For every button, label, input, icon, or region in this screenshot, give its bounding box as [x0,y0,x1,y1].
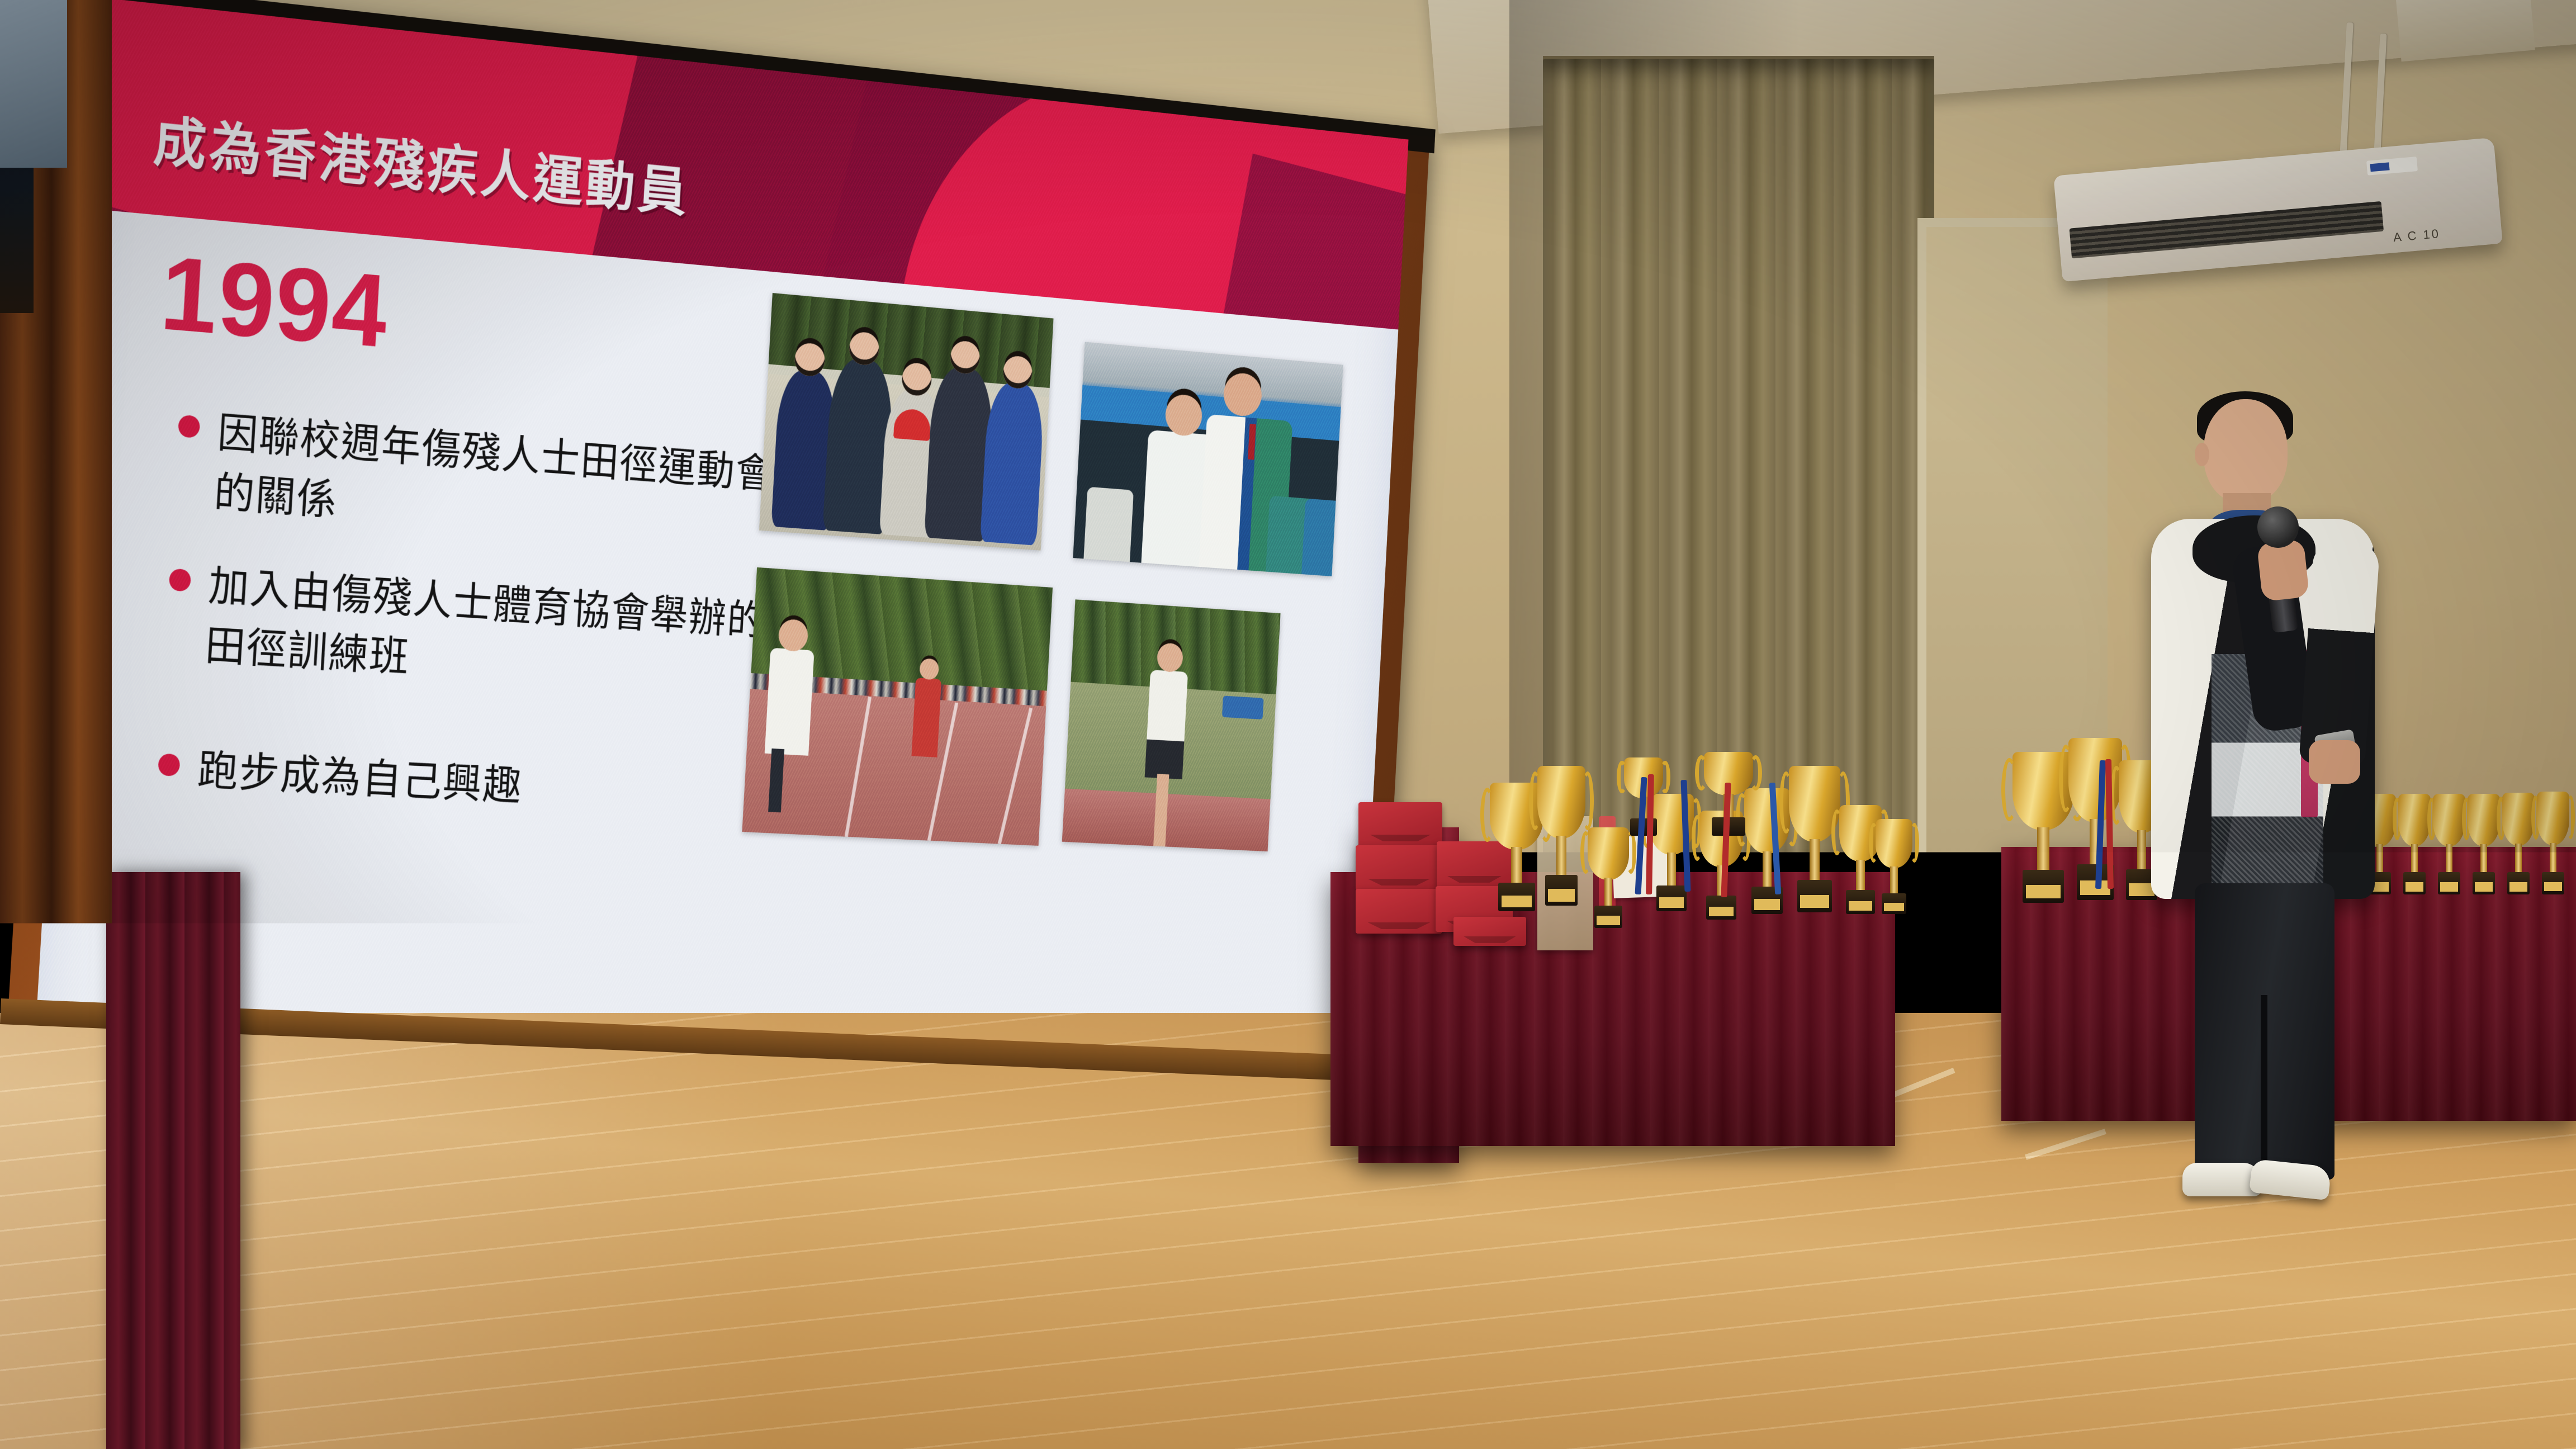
bullet-dot-icon [158,753,181,776]
photo-athlete-on-field [1062,599,1281,851]
trophy [2433,794,2465,894]
air-conditioner-brand-badge [2366,157,2418,176]
stage-side-curtain [106,872,240,1449]
list-item: 跑步成為自己興趣 [144,738,787,828]
air-conditioner-grille [2070,201,2384,259]
list-item: 加入由傷殘人士體育協會舉辦的田徑訓練班 [152,553,797,709]
bullet-text: 加入由傷殘人士體育協會舉辦的田徑訓練班 [203,562,766,681]
presenter-ear [2195,443,2209,466]
slide-bullet-list: 因聯校週年傷殘人士田徑運動會的關係 加入由傷殘人士體育協會舉辦的田徑訓練班 跑步… [143,399,806,861]
presenter-speaker [2141,391,2381,1230]
gift-box [1453,917,1526,946]
photo-student-and-coach [1073,342,1343,576]
slide-photo-collage [732,292,1366,950]
trophy [1588,827,1629,928]
bullet-text: 跑步成為自己興趣 [196,747,523,809]
gift-box [1358,802,1442,846]
trophy [2398,794,2431,894]
left-wall-panel [0,0,67,168]
slide-year-heading: 1994 [158,233,392,372]
gift-box [1356,889,1442,934]
photo-track-race [742,567,1053,846]
floor-tape-mark [1891,1068,1955,1098]
trophy [1876,819,1912,914]
lecture-hall-scene: A C 10 成為香港殘疾人運動員 1994 [0,0,2576,1449]
trophy [2502,793,2535,894]
photo-students-group [759,293,1054,551]
bullet-text: 因聯校週年傷殘人士田徑運動會的關係 [213,409,775,524]
presenter-hand-holding-microphone [2257,539,2309,602]
presenter-hand-holding-clicker [2309,740,2360,784]
air-conditioner-label: A C 10 [2393,226,2441,245]
presenter-leg-gap [2261,995,2267,1180]
bullet-dot-icon [178,415,201,438]
list-item: 因聯校週年傷殘人士田徑運動會的關係 [161,399,805,562]
window-curtain [1543,59,1934,858]
trophy [2468,794,2500,894]
presenter-head [2204,399,2288,503]
trophy [2537,792,2569,894]
bullet-dot-icon [169,568,192,591]
gift-box [1356,845,1442,890]
microphone-icon [2257,506,2299,548]
trophy [1537,766,1585,906]
floor-tape-mark [2025,1129,2106,1160]
